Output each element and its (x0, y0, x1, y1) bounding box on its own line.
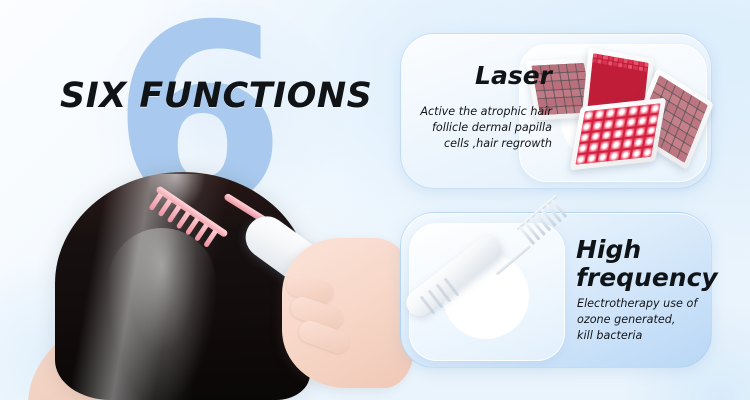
led-grid (576, 103, 661, 164)
laser-led-panels-image (527, 45, 712, 180)
hf-title-line: High (576, 236, 714, 264)
comb-tooth (203, 229, 218, 248)
page-title: SIX FUNCTIONS (60, 76, 372, 116)
high-frequency-card-description: Electrotherapy use of ozone generated, k… (577, 296, 713, 345)
laser-card-description: Active the atrophic hair follicle dermal… (398, 104, 552, 153)
hf-desc-line: kill bacteria (577, 328, 713, 344)
laser-desc-line: Active the atrophic hair (398, 104, 552, 120)
hf-title-line: frequency (576, 264, 714, 292)
high-frequency-card-title: High frequency (576, 236, 714, 292)
hf-desc-line: ozone generated, (577, 312, 713, 328)
high-frequency-wand-image (404, 216, 564, 364)
laser-desc-line: follicle dermal papilla (398, 120, 552, 136)
laser-desc-line: cells ,hair regrowth (398, 136, 552, 152)
hair-shine-highlight (108, 228, 216, 400)
hero-photo (0, 150, 420, 400)
led-panel-front (570, 98, 667, 171)
promo-banner: 6 SIX FUNCTIONS (0, 0, 750, 400)
wand-handle (401, 232, 505, 321)
hf-desc-line: Electrotherapy use of (577, 296, 713, 312)
laser-card-title: Laser (402, 62, 552, 90)
